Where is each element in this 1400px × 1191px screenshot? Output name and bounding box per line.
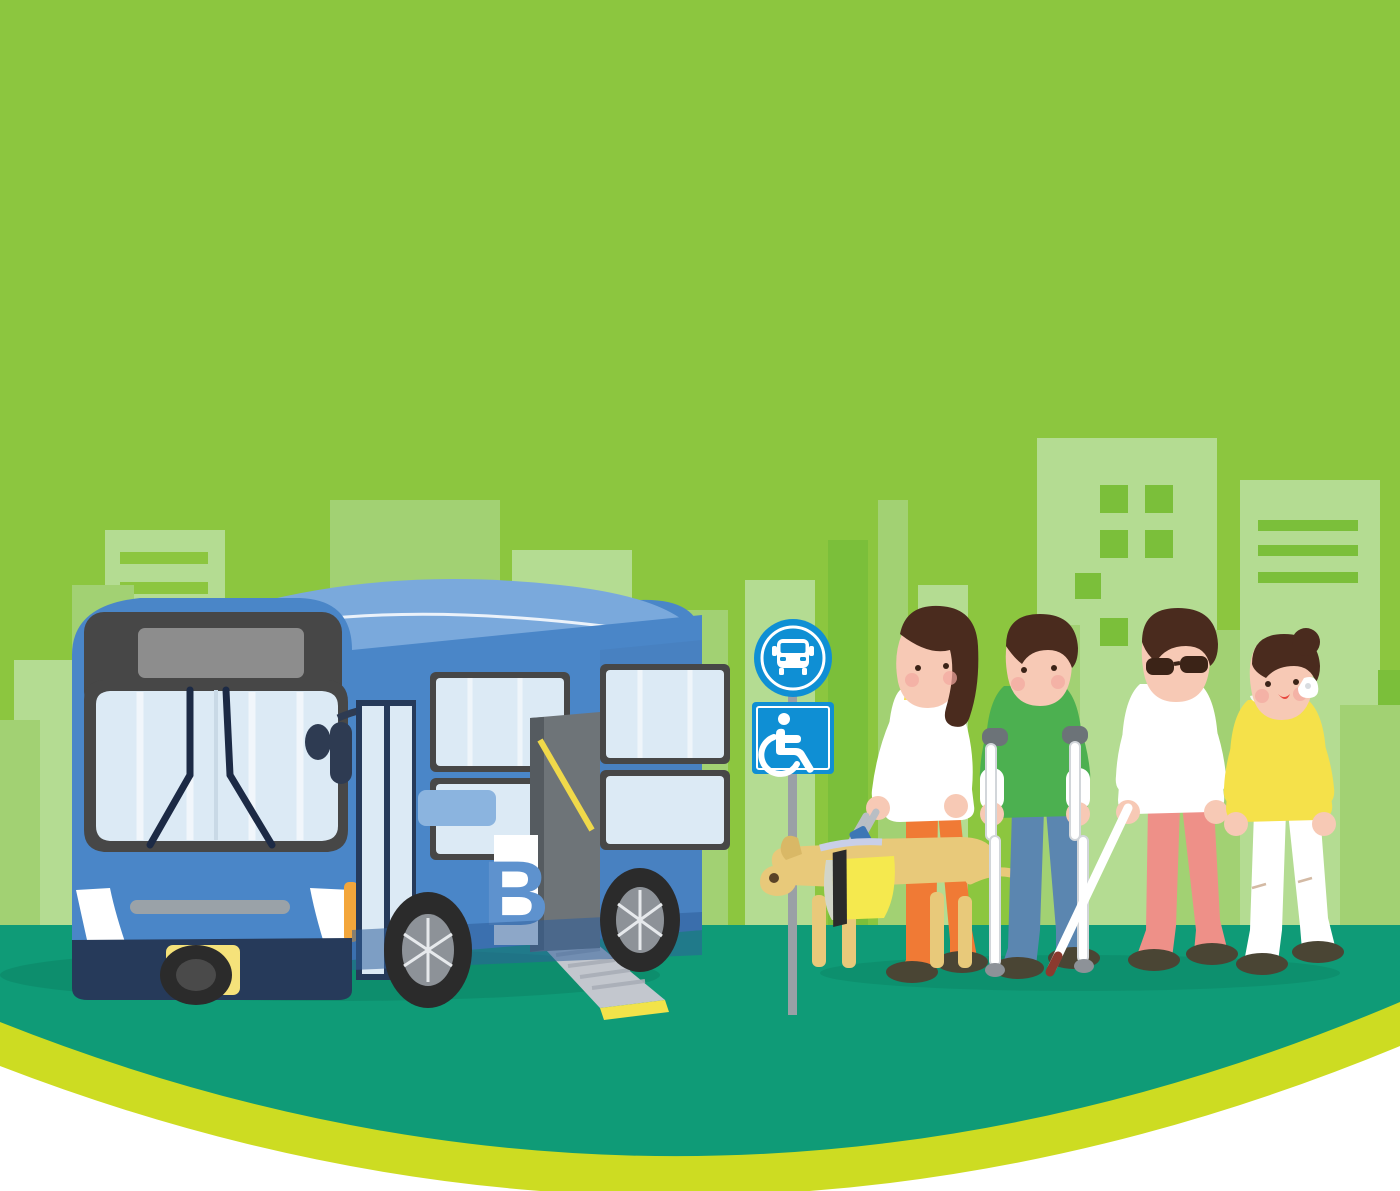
hair-bun bbox=[1292, 628, 1320, 656]
accessibility-sign bbox=[752, 702, 834, 774]
bottom-arc bbox=[0, 880, 1400, 1191]
bus-sign bbox=[754, 619, 832, 697]
promo-banner: B bbox=[0, 0, 1400, 1191]
